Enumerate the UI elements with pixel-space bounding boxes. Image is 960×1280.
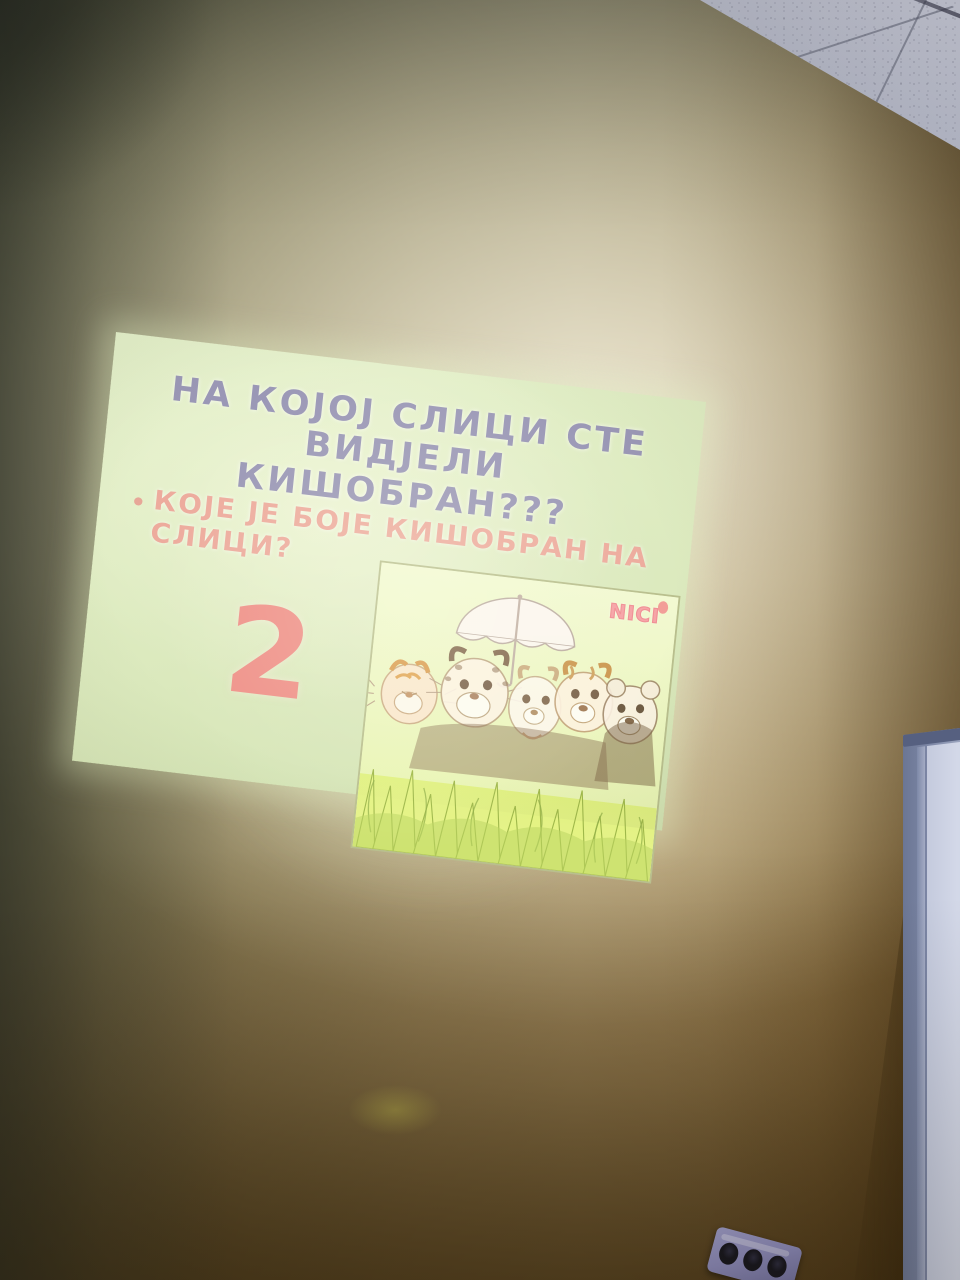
slide-vignette xyxy=(72,332,706,831)
projected-slide-area: НА КОЈОЈ СЛИЦИ СТЕ ВИДЈЕЛИ КИШОБРАН??? К… xyxy=(0,0,960,1280)
presentation-slide: НА КОЈОЈ СЛИЦИ СТЕ ВИДЈЕЛИ КИШОБРАН??? К… xyxy=(72,332,706,831)
photo-scene: 1,2 1 - 3 НА КОЈОЈ СЛИЦИ СТЕ ВИДЈЕЛИ КИШ… xyxy=(0,0,960,1280)
